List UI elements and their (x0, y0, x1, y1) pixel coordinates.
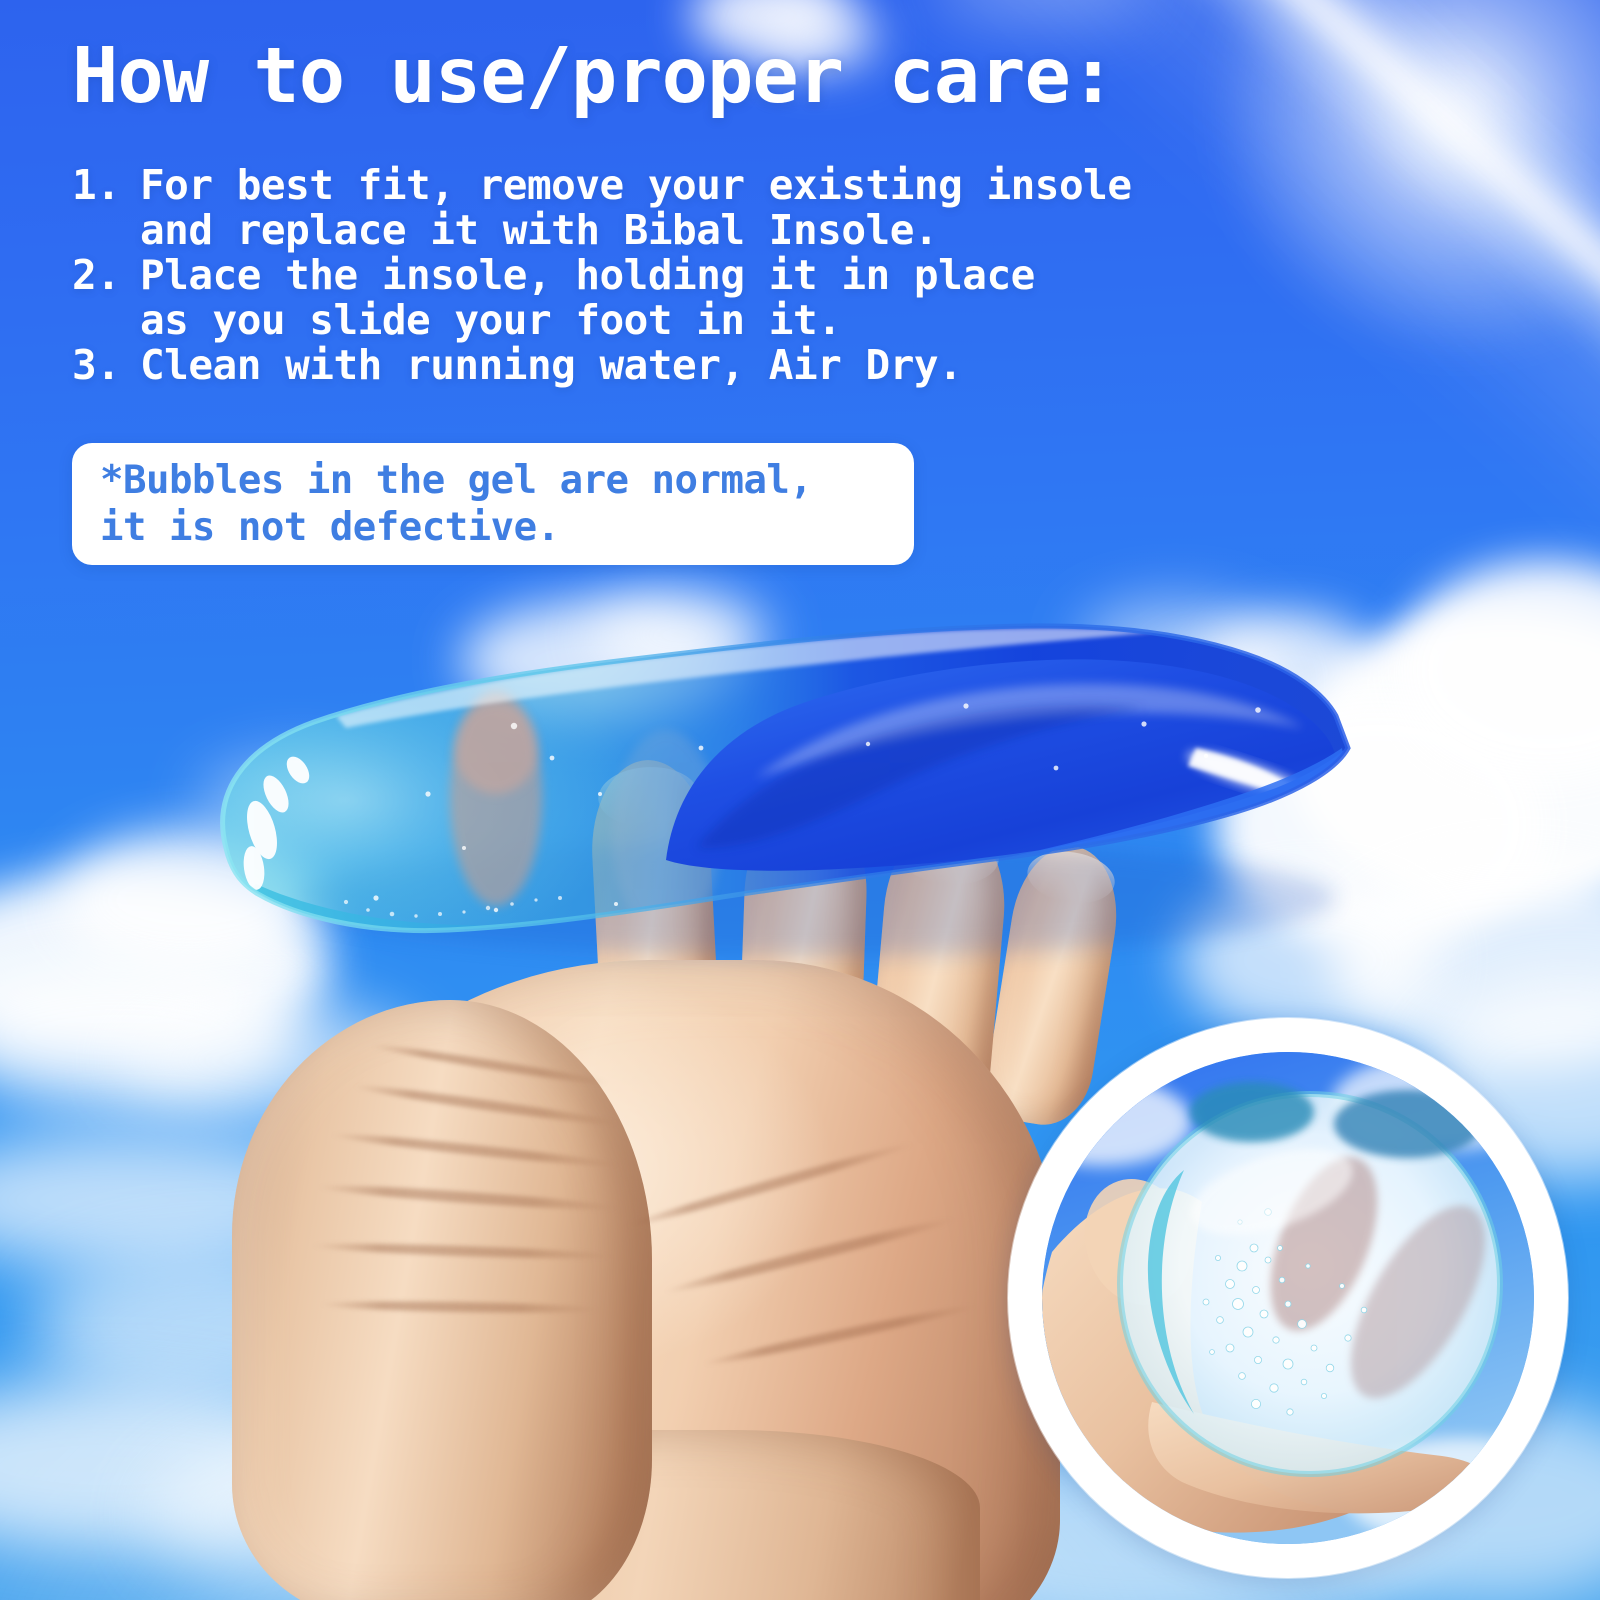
list-item-number: 3. (72, 343, 140, 388)
list-item: 3. Clean with running water, Air Dry. (72, 343, 1272, 388)
list-item-line: Place the insole, holding it in place (140, 253, 1272, 298)
list-item-text: Clean with running water, Air Dry. (140, 343, 1272, 388)
list-item-text: Place the insole, holding it in place as… (140, 253, 1272, 343)
note-callout: *Bubbles in the gel are normal, it is no… (72, 443, 914, 565)
product-infographic: How to use/proper care: 1. For best fit,… (0, 0, 1600, 1600)
detail-inset-circle (1008, 1018, 1568, 1578)
list-item-number: 1. (72, 163, 140, 208)
list-item-number: 2. (72, 253, 140, 298)
list-item-line: as you slide your foot in it. (140, 298, 1272, 343)
note-line: *Bubbles in the gel are normal, (100, 457, 886, 504)
list-item: 2. Place the insole, holding it in place… (72, 253, 1272, 343)
list-item-text: For best fit, remove your existing insol… (140, 163, 1272, 253)
list-item-line: For best fit, remove your existing insol… (140, 163, 1272, 208)
thumb-mound (232, 1000, 652, 1600)
list-item-line: Clean with running water, Air Dry. (140, 343, 1272, 388)
note-line: it is not defective. (100, 504, 886, 551)
instruction-list: 1. For best fit, remove your existing in… (72, 163, 1272, 388)
list-item-line: and replace it with Bibal Insole. (140, 208, 1272, 253)
list-item: 1. For best fit, remove your existing in… (72, 163, 1272, 253)
page-title: How to use/proper care: (72, 38, 1115, 115)
detail-inset-photo (1042, 1052, 1534, 1544)
